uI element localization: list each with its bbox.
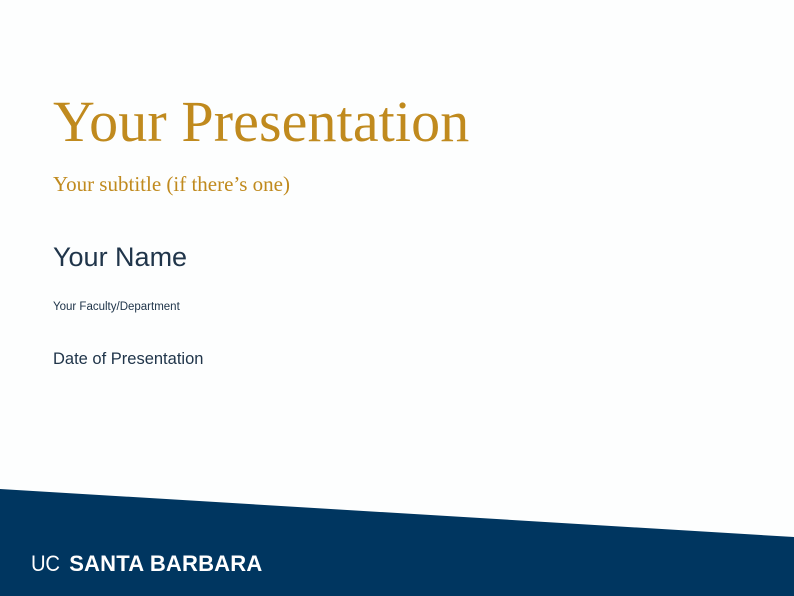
presentation-slide: Your Presentation Your subtitle (if ther…	[0, 0, 794, 596]
slide-title: Your Presentation	[53, 93, 753, 151]
presenter-department: Your Faculty/Department	[53, 301, 180, 315]
logo-uc-prefix: UC	[31, 551, 60, 577]
presentation-date: Date of Presentation	[53, 350, 203, 370]
presenter-name: Your Name	[53, 243, 187, 273]
logo-campus-name: SANTA BARBARA	[69, 551, 262, 577]
ucsb-logo: UC SANTA BARBARA	[31, 551, 262, 577]
title-block: Your Presentation Your subtitle (if ther…	[53, 93, 753, 195]
slide-subtitle: Your subtitle (if there’s one)	[53, 151, 753, 195]
